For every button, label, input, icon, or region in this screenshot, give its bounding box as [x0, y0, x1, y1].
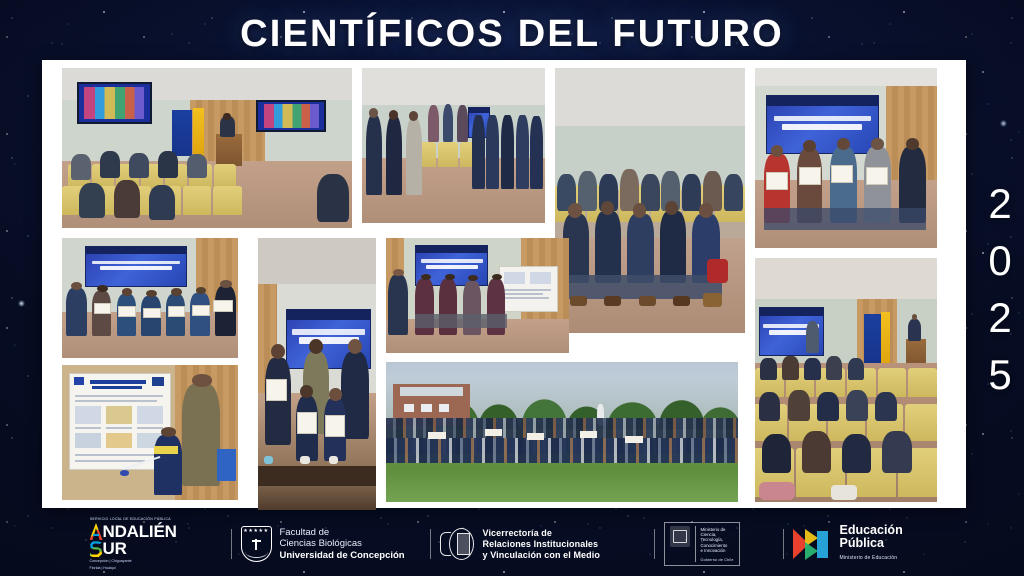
logo-divider — [430, 529, 431, 559]
edupub-blue-bar — [817, 531, 828, 558]
educacion-publica-mark-icon — [793, 529, 831, 560]
vrim-line-3: y Vinculación con el Medio — [483, 550, 600, 561]
andalien-s-glyph — [90, 540, 103, 557]
edupub-line-2: Pública — [840, 537, 903, 550]
vrim-square-shape — [457, 533, 470, 555]
photo-family-certificates — [258, 238, 376, 510]
photo-poster-girl-pointer — [62, 365, 238, 500]
udec-line-2: Ciencias Biológicas — [280, 538, 405, 550]
andalien-name-rest-2: UR — [103, 539, 127, 558]
chile-coat-of-arms-icon — [670, 526, 690, 547]
vrim-bracket-shape — [440, 532, 451, 556]
logo-divider — [654, 529, 655, 559]
photo-certificates-students — [62, 238, 238, 358]
minciencia-line-5: e Innovación — [701, 548, 734, 553]
footer-logo-strip: SERVICIO LOCAL DE EDUCACIÓN PÚBLICA NDAL… — [0, 512, 1024, 576]
photo-seated-authorities — [555, 68, 745, 333]
edupub-line-1: Educación — [840, 524, 903, 537]
photo-auditorium-opening — [62, 68, 352, 228]
edupub-text-block: Educación Pública Ministerio de Educació… — [840, 524, 903, 565]
minciencia-lines: Ministerio de Ciencia, Tecnología, Conoc… — [701, 526, 734, 553]
andalien-name-line-1: NDALIÉN — [90, 523, 177, 540]
udec-line-3: Universidad de Concepción — [280, 550, 405, 562]
year-digit-1: 2 — [978, 175, 1022, 232]
page-title: CIENTÍFICOS DEL FUTURO — [0, 14, 1024, 54]
logo-ministerio-ciencia: Ministerio de Ciencia, Tecnología, Conoc… — [664, 522, 774, 566]
year-digit-4: 5 — [978, 346, 1022, 403]
andalien-communes-2: Florida | Hualqui — [90, 566, 116, 571]
photo-outdoor-group — [386, 362, 738, 502]
logo-universidad-de-concepcion: ★★★★★ Facultad de Ciencias Biológicas Un… — [241, 526, 421, 562]
udec-text-block: Facultad de Ciencias Biológicas Universi… — [280, 527, 405, 562]
udec-crest-ring — [245, 545, 268, 558]
andalien-communes-1: Concepción | Chiguayante — [90, 559, 132, 564]
year-digit-3: 2 — [978, 289, 1022, 346]
vrim-line-1: Vicerrectoría de — [483, 528, 600, 539]
year-label: 2 0 2 5 — [978, 175, 1022, 403]
minciencia-divider — [695, 526, 696, 562]
logo-divider — [783, 529, 784, 559]
photo-audience-back — [755, 258, 937, 502]
udec-crest-stars: ★★★★★ — [242, 529, 271, 534]
minciencia-text-block: Ministerio de Ciencia, Tecnología, Conoc… — [701, 526, 734, 562]
bright-star — [1000, 120, 1007, 127]
bright-star — [18, 300, 25, 307]
udec-line-1: Facultad de — [280, 527, 405, 539]
andalien-a-glyph — [90, 523, 103, 540]
logo-andalien-sur: SERVICIO LOCAL DE EDUCACIÓN PÚBLICA NDAL… — [72, 517, 222, 571]
andalien-name-line-2: UR — [90, 540, 127, 557]
udec-crest-icon: ★★★★★ — [241, 526, 272, 562]
photo-poster-presentation — [386, 238, 569, 353]
photo-certificates-adults — [755, 68, 937, 248]
logo-divider — [231, 529, 232, 559]
poster-canvas: CIENTÍFICOS DEL FUTURO 2 0 2 5 — [0, 0, 1024, 576]
year-digit-2: 0 — [978, 232, 1022, 289]
vrim-mark-icon — [440, 528, 474, 560]
logo-vrim: Vicerrectoría de Relaciones Instituciona… — [440, 528, 645, 561]
logo-educacion-publica: Educación Pública Ministerio de Educació… — [793, 524, 953, 565]
vrim-line-2: Relaciones Institucionales — [483, 539, 600, 550]
edupub-line-3: Ministerio de Educación — [840, 552, 903, 565]
vrim-text-block: Vicerrectoría de Relaciones Instituciona… — [483, 528, 600, 561]
photo-collage-board — [42, 60, 966, 508]
minciencia-government-line: Gobierno de Chile — [701, 558, 734, 562]
photo-group-standing-auditorium — [362, 68, 545, 223]
andalien-toppline: SERVICIO LOCAL DE EDUCACIÓN PÚBLICA — [90, 517, 171, 521]
minciencia-box: Ministerio de Ciencia, Tecnología, Conoc… — [664, 522, 740, 566]
